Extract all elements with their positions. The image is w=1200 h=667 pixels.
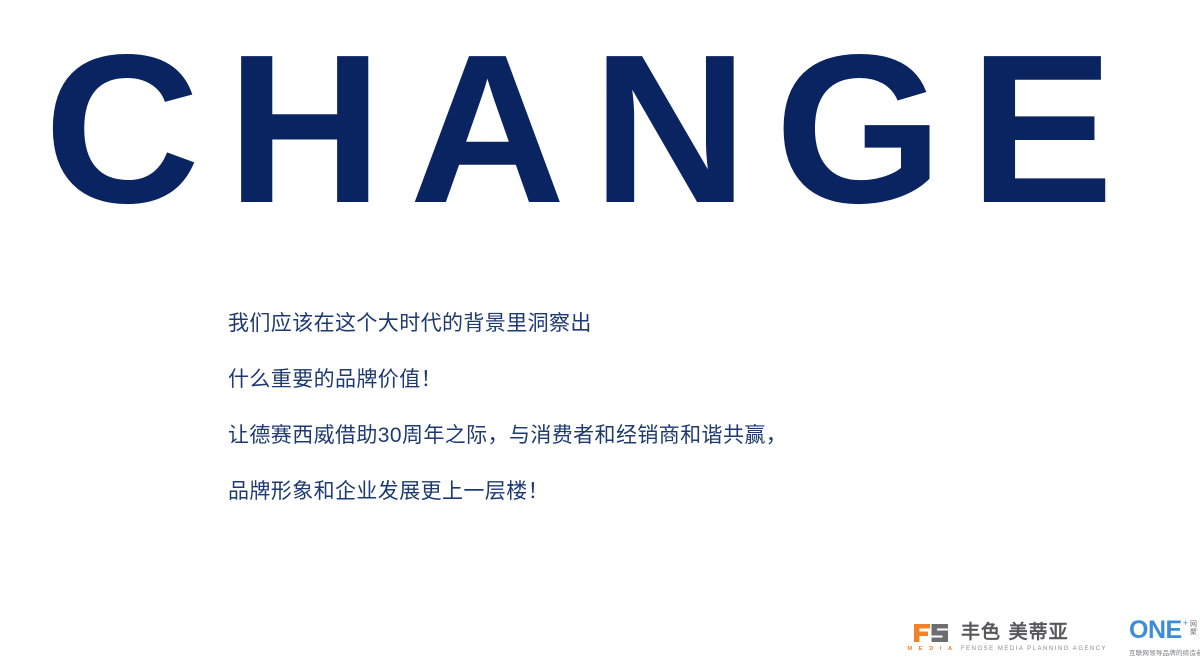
fengse-mark-group: M E D I A [908, 622, 954, 652]
body-line-3: 让德赛西威借助30周年之际，与消费者和经销商和谐共赢， [228, 408, 1048, 464]
fengse-media-label: M E D I A [907, 646, 954, 652]
body-paragraph: 我们应该在这个大时代的背景里洞察出 什么重要的品牌价值！ 让德赛西威借助30周年… [228, 296, 1048, 520]
one-wordmark: ONE [1129, 618, 1182, 643]
body-line-1: 我们应该在这个大时代的背景里洞察出 [228, 296, 1048, 352]
slide-canvas: CHANGE 我们应该在这个大时代的背景里洞察出 什么重要的品牌价值！ 让德赛西… [0, 0, 1200, 667]
page-title: CHANGE [44, 24, 1140, 234]
headline-container: CHANGE [44, 24, 1164, 234]
one-plus-icon: + [1183, 619, 1188, 628]
fs-monogram-icon [911, 622, 951, 644]
fengse-wordmark-group: 丰色 美蒂亚 FENGSE MEDIA PLANNING AGENCY [961, 622, 1107, 652]
one-wordmark-row: ONE + 网 聚 [1129, 618, 1200, 643]
footer-logo-bar: M E D I A 丰色 美蒂亚 FENGSE MEDIA PLANNING A… [908, 612, 1192, 662]
one-chinese-stack: 网 聚 [1190, 620, 1197, 636]
one-chinese-char-2: 聚 [1190, 628, 1197, 636]
one-chinese-char-1: 网 [1190, 620, 1197, 628]
fengse-chinese-name: 丰色 美蒂亚 [961, 622, 1107, 643]
fengse-english-name: FENGSE MEDIA PLANNING AGENCY [961, 646, 1107, 652]
body-line-4: 品牌形象和企业发展更上一层楼！ [228, 464, 1048, 520]
one-tagline: 互联网领导品牌的缔造者 [1129, 647, 1200, 657]
body-line-2: 什么重要的品牌价值！ [228, 352, 1048, 408]
one-logo-group: ONE + 网 聚 互联网领导品牌的缔造者 [1129, 618, 1200, 657]
